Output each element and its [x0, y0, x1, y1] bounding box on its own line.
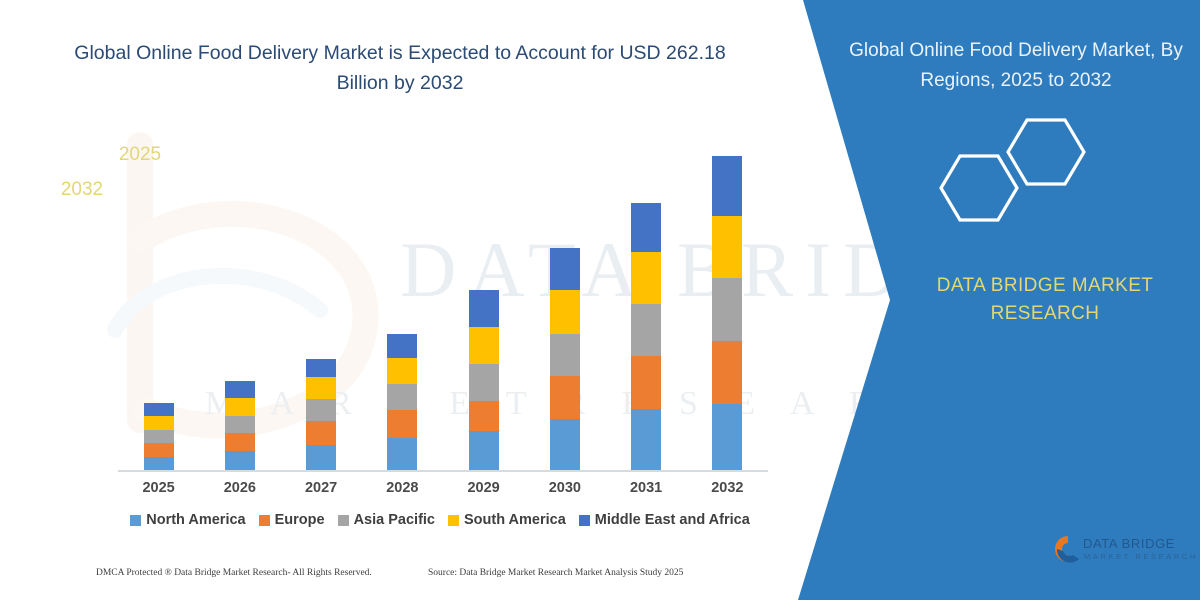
bar-segment[interactable]: [631, 356, 661, 409]
bar-stack-2028[interactable]: [387, 334, 417, 471]
brand-line-1: DATA BRIDGE MARKET: [900, 272, 1190, 300]
legend-label: Asia Pacific: [354, 512, 435, 528]
x-tick-2032: 2032: [695, 480, 759, 496]
bar-segment[interactable]: [469, 364, 499, 401]
bar-segment[interactable]: [144, 403, 174, 416]
bar-segment[interactable]: [387, 358, 417, 384]
legend-item[interactable]: Europe: [259, 512, 325, 528]
x-tick-2031: 2031: [614, 480, 678, 496]
bar-segment[interactable]: [225, 416, 255, 433]
bar-segment[interactable]: [225, 451, 255, 471]
bar-segment[interactable]: [550, 248, 580, 290]
bar-segment[interactable]: [712, 278, 742, 341]
legend-swatch-icon: [448, 515, 459, 526]
bar-segment[interactable]: [550, 334, 580, 376]
x-axis-tick-labels: 20252026202720282029203020312032: [118, 480, 768, 502]
bar-segment[interactable]: [306, 377, 336, 399]
bar-stack-2027[interactable]: [306, 359, 336, 471]
bar-stack-2030[interactable]: [550, 248, 580, 471]
hexagon-2032-shape: [941, 156, 1017, 220]
bar-segment[interactable]: [306, 399, 336, 421]
bar-segment[interactable]: [550, 376, 580, 419]
legend-item[interactable]: Asia Pacific: [338, 512, 435, 528]
bar-segment[interactable]: [387, 410, 417, 438]
bar-segment[interactable]: [712, 216, 742, 278]
bar-segment[interactable]: [631, 252, 661, 304]
footer-dmca-notice: DMCA Protected ® Data Bridge Market Rese…: [96, 568, 372, 578]
chart-plot-area: [118, 140, 768, 471]
x-tick-2029: 2029: [452, 480, 516, 496]
chart-legend: North AmericaEuropeAsia PacificSouth Ame…: [110, 512, 770, 528]
footer-source-note: Source: Data Bridge Market Research Mark…: [428, 568, 683, 578]
dbmr-swoosh-icon: [1055, 534, 1081, 564]
legend-item[interactable]: South America: [448, 512, 566, 528]
hexagon-2032-label: 2032: [42, 179, 122, 201]
bar-segment[interactable]: [225, 433, 255, 451]
bar-segment[interactable]: [144, 430, 174, 443]
panel-title: Global Online Food Delivery Market, By R…: [840, 36, 1192, 96]
legend-label: South America: [464, 512, 566, 528]
bar-segment[interactable]: [144, 457, 174, 471]
legend-label: Europe: [275, 512, 325, 528]
bar-stack-2031[interactable]: [631, 203, 661, 471]
dbmr-logo: DATA BRIDGE MARKET RESEARCH: [1055, 532, 1195, 578]
x-tick-2025: 2025: [127, 480, 191, 496]
bar-segment[interactable]: [469, 431, 499, 471]
bar-segment[interactable]: [387, 334, 417, 358]
brand-line-2: RESEARCH: [900, 300, 1190, 328]
bar-stack-2029[interactable]: [469, 290, 499, 471]
hexagon-2025-shape: [1008, 120, 1084, 184]
bar-segment[interactable]: [225, 398, 255, 416]
bar-segment[interactable]: [306, 445, 336, 471]
bar-segment[interactable]: [550, 419, 580, 471]
legend-label: North America: [146, 512, 245, 528]
bar-segment[interactable]: [469, 290, 499, 327]
x-tick-2030: 2030: [533, 480, 597, 496]
legend-swatch-icon: [338, 515, 349, 526]
legend-label: Middle East and Africa: [595, 512, 750, 528]
x-tick-2028: 2028: [370, 480, 434, 496]
bar-segment[interactable]: [469, 401, 499, 431]
hexagon-2025-label: 2025: [100, 144, 180, 166]
bar-segment[interactable]: [631, 304, 661, 356]
dbmr-logo-title: DATA BRIDGE: [1083, 536, 1175, 551]
legend-swatch-icon: [259, 515, 270, 526]
legend-item[interactable]: North America: [130, 512, 245, 528]
legend-item[interactable]: Middle East and Africa: [579, 512, 750, 528]
legend-swatch-icon: [579, 515, 590, 526]
bar-segment[interactable]: [712, 156, 742, 216]
x-tick-2027: 2027: [289, 480, 353, 496]
bar-stack-2032[interactable]: [712, 156, 742, 471]
bar-segment[interactable]: [631, 203, 661, 252]
bar-segment[interactable]: [712, 404, 742, 471]
bar-segment[interactable]: [306, 421, 336, 445]
bar-segment[interactable]: [144, 443, 174, 457]
dbmr-logo-subtitle: MARKET RESEARCH: [1084, 552, 1198, 561]
bar-stack-2025[interactable]: [144, 403, 174, 471]
bar-stack-2026[interactable]: [225, 381, 255, 471]
bar-segment[interactable]: [631, 409, 661, 471]
x-axis-line: [118, 470, 768, 472]
bar-segment[interactable]: [387, 438, 417, 471]
hexagon-badges: [920, 118, 1120, 240]
bar-segment[interactable]: [387, 384, 417, 410]
legend-swatch-icon: [130, 515, 141, 526]
stacked-bar-chart: 20252026202720282029203020312032 North A…: [0, 0, 800, 600]
brand-name: DATA BRIDGE MARKET RESEARCH: [900, 272, 1190, 328]
bar-segment[interactable]: [225, 381, 255, 398]
bar-segment[interactable]: [469, 327, 499, 364]
bar-segment[interactable]: [712, 341, 742, 404]
bar-segment[interactable]: [306, 359, 336, 377]
infographic-canvas: DATA BRIDGE M A R K E T R E S E A R C H …: [0, 0, 1200, 600]
bar-segment[interactable]: [144, 416, 174, 430]
x-tick-2026: 2026: [208, 480, 272, 496]
bar-segment[interactable]: [550, 290, 580, 334]
